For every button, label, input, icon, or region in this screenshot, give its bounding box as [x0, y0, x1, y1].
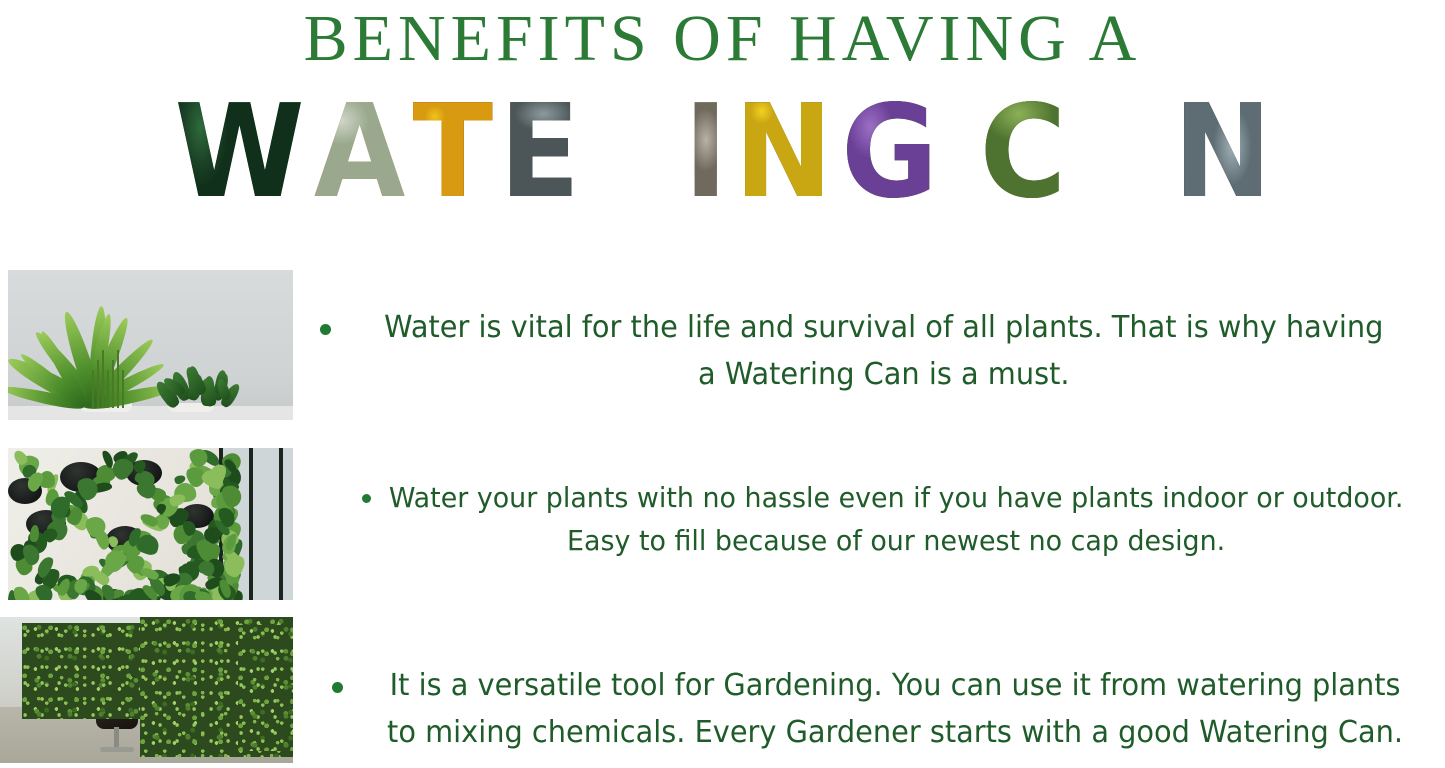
headline-primary: BENEFITS OF HAVING A [0, 2, 1445, 76]
floor-strip [8, 406, 293, 420]
chair-stem [114, 727, 119, 749]
photo-living-wall [8, 448, 293, 600]
plant-stem [92, 370, 94, 408]
scene-plant-partition [0, 617, 293, 763]
bullet-dot-icon [320, 324, 331, 335]
list-item-text: Water your plants with no hassle even if… [383, 476, 1409, 562]
list-item: Water your plants with no hassle even if… [362, 476, 1445, 562]
headline-letter-t: T [412, 88, 492, 218]
headline-letter-n: N [734, 88, 833, 218]
list-item: Water is vital for the life and survival… [320, 304, 1445, 398]
headline-letter-w: W [174, 88, 304, 218]
poster-canvas: BENEFITS OF HAVING A WATERINGCAN [0, 0, 1445, 768]
bullet-dot-icon [362, 494, 371, 503]
hedge-wall-left [22, 623, 152, 719]
headline-photo-letters: WATERINGCAN [0, 88, 1445, 233]
list-item-text: It is a versatile tool for Gardening. Yo… [381, 662, 1409, 756]
headline-letter-e: E [500, 88, 580, 218]
headline-letter-g: G [841, 88, 938, 218]
photo-plant-partition [0, 617, 293, 763]
plant-stem [102, 350, 104, 408]
headline-letter-a: A [314, 88, 405, 218]
plant-stem [112, 360, 114, 408]
plant-stem [97, 360, 99, 408]
headline-letter-c: C [980, 88, 1066, 218]
bullet-dot-icon [332, 682, 343, 693]
plant-stem [117, 350, 119, 408]
headline-letter-i: I [684, 88, 728, 218]
photo-letter-group: WATERINGCAN [169, 88, 1277, 218]
chair-base [100, 747, 134, 752]
scene-living-wall [8, 448, 293, 600]
photo-potted-plants [8, 270, 293, 420]
scene-potted-plants [8, 270, 293, 420]
plant-stem [107, 370, 109, 408]
list-item-text: Water is vital for the life and survival… [375, 304, 1393, 398]
photo-frame [8, 270, 293, 420]
list-item: It is a versatile tool for Gardening. Yo… [332, 662, 1445, 756]
photo-frame [0, 617, 293, 763]
plant-stem [122, 370, 124, 408]
benefits-list: Water is vital for the life and survival… [310, 262, 1445, 768]
photo-frame [8, 448, 293, 600]
headline-letter-n: N [1173, 88, 1272, 218]
hedge-wall-far [238, 625, 293, 751]
headline-letter-a: A [1074, 88, 1165, 218]
headline-letter-r: R [588, 88, 679, 218]
